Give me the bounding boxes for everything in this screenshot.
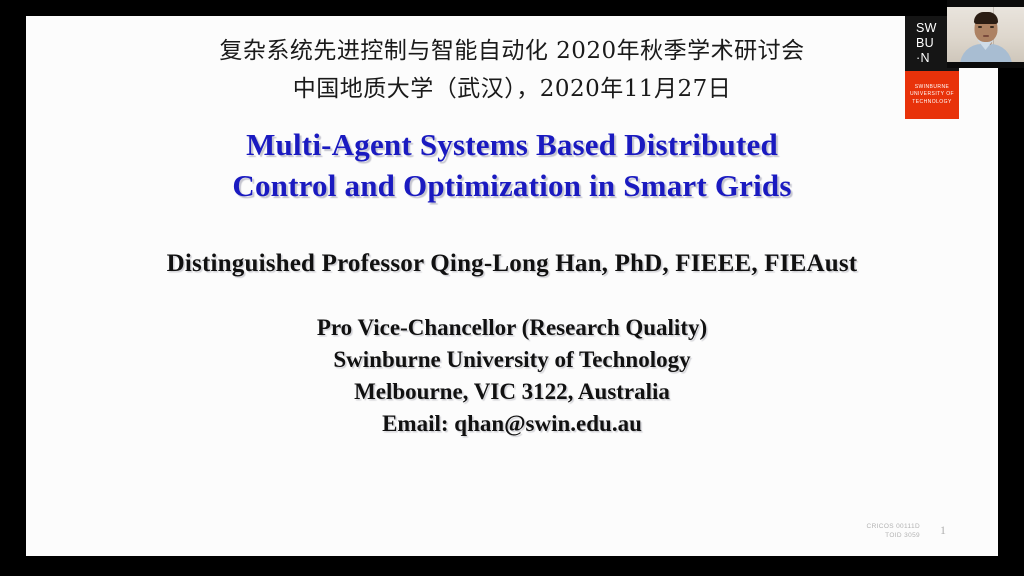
presenter-mouth: [983, 35, 989, 37]
logo-wordmark-line-2: UNIVERSITY OF: [910, 91, 954, 99]
conference-header-line-1: 复杂系统先进控制与智能自动化 2020年秋季学术研讨会: [26, 32, 998, 70]
talk-title-line-2: Control and Optimization in Smart Grids: [26, 165, 998, 206]
page-title: Multi-Agent Systems Based Distributed Co…: [26, 124, 998, 206]
affiliation-location: Melbourne, VIC 3122, Australia: [26, 376, 998, 408]
presenter-eye-right: [990, 26, 994, 28]
conference-header-line-2: 中国地质大学（武汉），2020年11月27日: [26, 70, 998, 108]
affiliation-role: Pro Vice-Chancellor (Research Quality): [26, 312, 998, 344]
footer-compliance-codes: CRICOS 00111D TOID 3059: [867, 522, 920, 540]
logo-wordmark-line-1: SWINBURNE: [915, 84, 950, 92]
slide-page-number: 1: [940, 523, 946, 538]
speaker-affiliation: Pro Vice-Chancellor (Research Quality) S…: [26, 312, 998, 440]
presentation-stage: 复杂系统先进控制与智能自动化 2020年秋季学术研讨会 中国地质大学（武汉），2…: [0, 0, 1024, 576]
presenter-eye-left: [978, 26, 982, 28]
video-frame: [947, 7, 1024, 62]
logo-mark-line-1: SW: [916, 21, 937, 36]
video-letterbox-bottom: [947, 62, 1024, 68]
logo-mark-line-2: BU: [916, 36, 937, 51]
swinburne-logo-wordmark: SWINBURNE UNIVERSITY OF TECHNOLOGY: [905, 71, 959, 119]
slide-canvas: 复杂系统先进控制与智能自动化 2020年秋季学术研讨会 中国地质大学（武汉），2…: [26, 16, 998, 556]
talk-title-line-1: Multi-Agent Systems Based Distributed: [26, 124, 998, 165]
affiliation-email: Email: qhan@swin.edu.au: [26, 408, 998, 440]
presenter-video-overlay[interactable]: [947, 0, 1024, 68]
cricos-code: CRICOS 00111D: [867, 522, 920, 531]
swinburne-logo-mark-text: SW BU ·N: [916, 21, 937, 66]
speaker-name: Distinguished Professor Qing-Long Han, P…: [26, 250, 998, 278]
logo-mark-line-3: ·N: [916, 51, 937, 66]
logo-wordmark-line-3: TECHNOLOGY: [912, 99, 952, 107]
conference-header: 复杂系统先进控制与智能自动化 2020年秋季学术研讨会 中国地质大学（武汉），2…: [26, 32, 998, 108]
presenter-hair: [974, 12, 998, 24]
affiliation-institution: Swinburne University of Technology: [26, 344, 998, 376]
toid-code: TOID 3059: [867, 531, 920, 540]
video-letterbox-top: [947, 0, 1024, 7]
